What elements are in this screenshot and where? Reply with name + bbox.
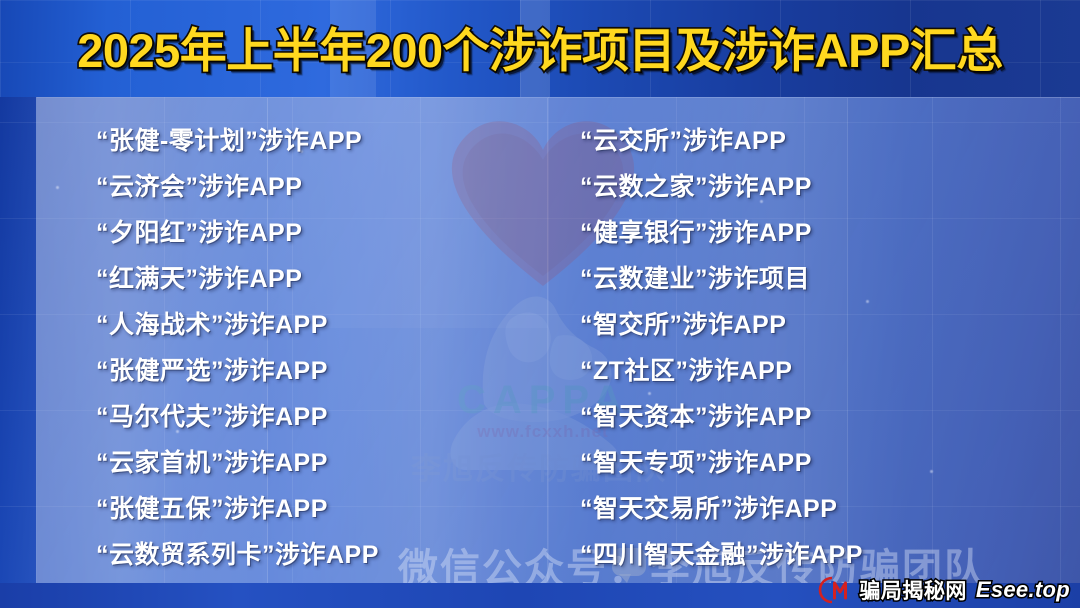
- list-item: “智天资本”涉诈APP: [580, 394, 863, 440]
- list-item: “云济会”涉诈APP: [96, 164, 379, 210]
- list-item: “红满天”涉诈APP: [96, 256, 379, 302]
- list-item: “张健严选”涉诈APP: [96, 348, 379, 394]
- brand-site-en: Esee.top: [976, 577, 1070, 603]
- page-title: 2025年上半年200个涉诈项目及涉诈APP汇总: [0, 26, 1080, 76]
- brand-badge: 骗局揭秘网 Esee.top: [816, 575, 1070, 605]
- list-item: “云家首机”涉诈APP: [96, 440, 379, 486]
- list-item: “云数贸系列卡”涉诈APP: [96, 532, 379, 578]
- list-item: “云数建业”涉诈项目: [580, 256, 863, 302]
- brand-site-cn: 骗局揭秘网: [859, 575, 967, 605]
- list-item: “智天交易所”涉诈APP: [580, 486, 863, 532]
- list-item: “云交所”涉诈APP: [580, 118, 863, 164]
- list-item: “云数之家”涉诈APP: [580, 164, 863, 210]
- list-item: “四川智天金融”涉诈APP: [580, 532, 863, 578]
- list-column-right: “云交所”涉诈APP “云数之家”涉诈APP “健享银行”涉诈APP “云数建业…: [580, 118, 863, 578]
- jm-logo-icon: [816, 575, 850, 605]
- list-item: “智交所”涉诈APP: [580, 302, 863, 348]
- list-column-left: “张健-零计划”涉诈APP “云济会”涉诈APP “夕阳红”涉诈APP “红满天…: [96, 118, 379, 578]
- list-item: “张健五保”涉诈APP: [96, 486, 379, 532]
- poster-root: 2025年上半年200个涉诈项目及涉诈APP汇总 CAPPA www.fcxxh…: [0, 0, 1080, 608]
- list-item: “ZT社区”涉诈APP: [580, 348, 863, 394]
- title-banner: 2025年上半年200个涉诈项目及涉诈APP汇总: [0, 0, 1080, 97]
- list-item: “夕阳红”涉诈APP: [96, 210, 379, 256]
- list-item: “健享银行”涉诈APP: [580, 210, 863, 256]
- list-item: “智天专项”涉诈APP: [580, 440, 863, 486]
- list-item: “人海战术”涉诈APP: [96, 302, 379, 348]
- list-item: “马尔代夫”涉诈APP: [96, 394, 379, 440]
- list-item: “张健-零计划”涉诈APP: [96, 118, 379, 164]
